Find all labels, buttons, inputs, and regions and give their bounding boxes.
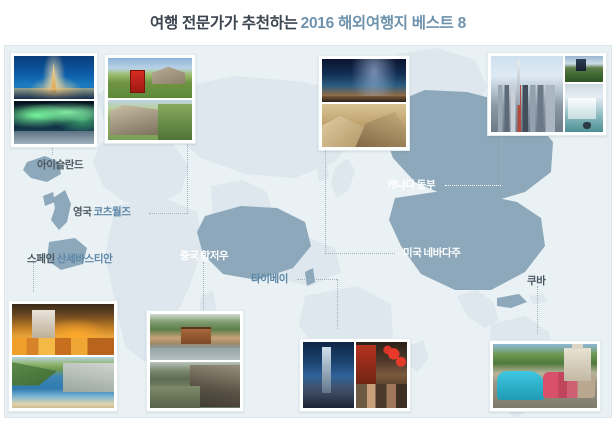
title-main-text: 여행 전문가가 추천하는 <box>150 15 298 32</box>
photo-reykjavik-hallgrimskirkja-night <box>14 56 94 99</box>
page-title: 여행 전문가가 추천하는2016 해외여행지 베스트 8 <box>0 0 616 44</box>
connector-nevada-horizontal2 <box>325 253 395 254</box>
photo-card-taipei[interactable] <box>299 338 411 412</box>
map-label-sansebastian[interactable]: 스페인산세바스티안 <box>27 254 112 265</box>
map-label-canada[interactable]: 캐나다동부 <box>387 180 435 191</box>
photo-city-aerial-view <box>565 56 603 82</box>
connector-taipei-horizontal <box>297 279 337 280</box>
label-city-nevada: 네바다주 <box>424 247 461 259</box>
photo-water-town-canal <box>150 362 240 408</box>
map-label-nevada[interactable]: 미국네바다주 <box>403 248 461 259</box>
connector-canada-horizontal <box>445 185 501 186</box>
photo-taipei-101-tower <box>303 342 354 408</box>
title-accent-text: 2016 해외여행지 베스트 8 <box>301 15 466 32</box>
connector-nevada-vertical <box>325 146 326 254</box>
label-city-canada-east: 동부 <box>417 179 436 191</box>
label-country-canada: 캐나다 <box>387 179 415 191</box>
photo-aurora-borealis <box>14 101 94 144</box>
photo-card-hangzhou[interactable] <box>146 310 244 412</box>
photo-stone-cottages-row <box>108 100 192 140</box>
photo-milky-way-night-sky <box>322 59 406 102</box>
photo-card-iceland[interactable] <box>10 52 98 148</box>
photo-west-lake-pavilion <box>150 314 240 360</box>
photo-card-sansebastian[interactable] <box>8 300 118 412</box>
map-label-cuba[interactable]: 쿠바 <box>527 276 546 287</box>
map-label-iceland[interactable]: 아이슬란드 <box>37 160 83 171</box>
label-city-cotswolds: 코츠월즈 <box>94 206 131 218</box>
photo-la-concha-bay <box>12 357 114 408</box>
map-label-taipei[interactable]: 타이베이 <box>249 274 288 285</box>
photo-card-cotswolds[interactable] <box>104 54 196 144</box>
photo-card-cuba[interactable] <box>489 340 601 412</box>
map-label-cotswolds[interactable]: 영국코츠월즈 <box>73 207 131 218</box>
label-country-spain: 스페인 <box>27 253 55 265</box>
photo-pintxos-bar <box>12 304 114 355</box>
label-country-usa: 미국 <box>403 247 422 259</box>
connector-taipei-vertical <box>337 279 338 329</box>
photo-niagara-falls <box>565 84 603 132</box>
connector-cotswolds-horizontal <box>149 213 187 214</box>
photo-card-nevada[interactable] <box>318 55 410 151</box>
photo-jiufen-old-street-lanterns <box>356 342 407 408</box>
photo-toronto-skyline <box>491 56 563 132</box>
label-country-uk: 영국 <box>73 206 92 218</box>
map-label-hangzhou[interactable]: 중국항저우 <box>180 251 228 262</box>
label-city-sansebastian: 산세바스티안 <box>57 253 113 265</box>
label-country-china: 중국 <box>180 250 199 262</box>
photo-red-telephone-box-village <box>108 58 192 98</box>
label-city-hangzhou: 항저우 <box>201 250 229 262</box>
connector-sansebastian <box>33 262 34 292</box>
label-country-cuba: 쿠바 <box>527 275 546 287</box>
label-city-taipei: 타이베이 <box>251 273 288 285</box>
photo-card-canada[interactable] <box>487 52 607 136</box>
photo-havana-classic-cars <box>493 344 597 408</box>
travel-infographic: 여행 전문가가 추천하는2016 해외여행지 베스트 8 <box>0 0 616 423</box>
connector-cuba <box>537 286 538 334</box>
connector-cotswolds-vertical <box>187 142 188 214</box>
havana-colonial-building <box>564 348 591 381</box>
photo-desert-badlands <box>322 104 406 147</box>
label-country-iceland: 아이슬란드 <box>37 159 83 171</box>
